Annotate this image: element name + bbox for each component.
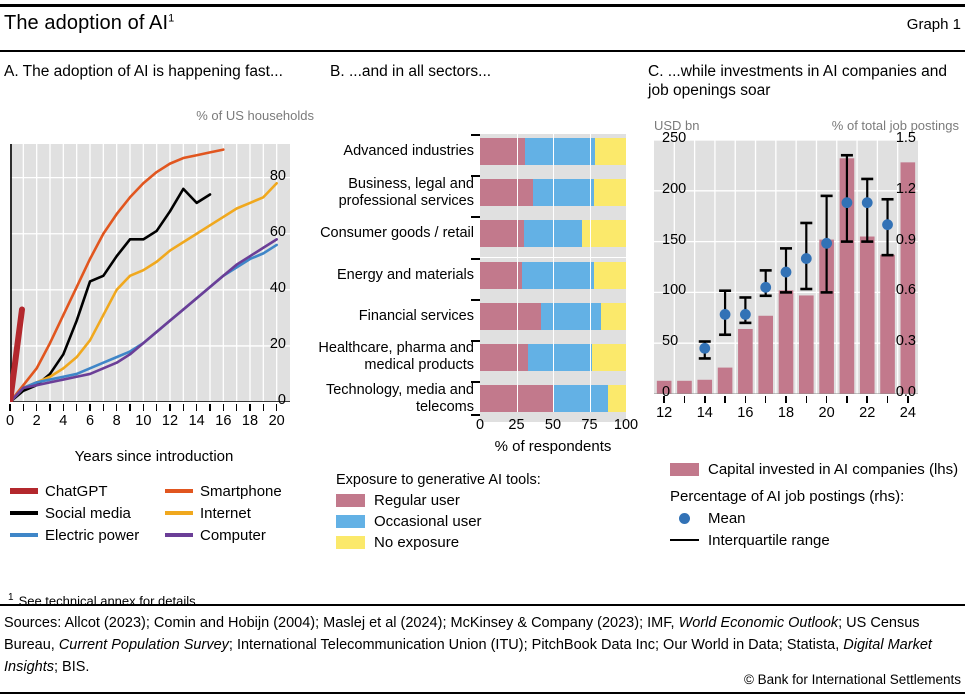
legend-item-occasional-user: Occasional user [336, 511, 636, 532]
panel-c-xtick [663, 396, 665, 403]
panel-b-row-tick [471, 299, 480, 301]
panel-c-xtick [684, 396, 686, 403]
panel-c-xtick [826, 396, 828, 403]
panel-c-svg [654, 140, 918, 394]
panel-a-xtick [89, 404, 91, 411]
panel-c-ytick-left-200: 200 [662, 181, 686, 197]
header-rule [0, 50, 965, 52]
bar-segment-regular-user [480, 179, 533, 206]
copyright: © Bank for International Settlements [744, 672, 961, 687]
bar-segment-occasional-user [541, 303, 601, 330]
sources-italic-2: Current Population Survey [59, 637, 229, 653]
panel-b-legend: Exposure to generative AI tools: Regular… [336, 472, 636, 553]
panel-c-xtick [887, 396, 889, 403]
panel-c-legend: Capital invested in AI companies (lhs) P… [654, 458, 965, 551]
legend-item-smartphone: Smartphone [165, 483, 320, 500]
panel-a-xtick [49, 404, 51, 411]
bar-segment-occasional-user [525, 138, 595, 165]
panel-a-xtick [156, 404, 158, 411]
panel-c-xtick [704, 396, 706, 403]
sources-part-4: ; BIS. [54, 659, 89, 675]
panel-c-legend-mean: Mean [654, 507, 965, 529]
mean-label: Mean [708, 510, 746, 527]
panel-b-category-label: Financial services [314, 308, 474, 325]
footnote: 1See technical annex for details. [8, 592, 199, 608]
panel-c-legend-iqr: Interquartile range [654, 529, 965, 551]
legend-item-electric-power: Electric power [10, 527, 165, 544]
bar-segment-no-exposure [601, 303, 626, 330]
legend-item-internet: Internet [165, 505, 320, 522]
panel-b-gridline [590, 134, 591, 412]
panel-c-legend-points-title: Percentage of AI job postings (rhs): [654, 488, 965, 505]
panel-c-xtick [745, 396, 747, 403]
panel-c-ytick-right-5: 1.5 [896, 130, 916, 146]
legend-label: No exposure [374, 534, 459, 551]
legend-item-computer: Computer [165, 527, 320, 544]
bar-segment-occasional-user [528, 344, 592, 371]
panel-c-xticklabel-2018: 18 [770, 405, 802, 421]
legend-line-swatch [165, 489, 193, 493]
panel-c-xticklabel-2024: 24 [892, 405, 924, 421]
panel-c-title: C. ...while investments in AI companies … [648, 62, 961, 100]
panel-b-row-tick [471, 216, 480, 218]
panel-c-xaxis: 12141618202224 [654, 394, 918, 428]
panel-b-xaxis-title: % of respondents [480, 438, 626, 455]
panel-b-category-label: Business, legal and professional service… [314, 176, 474, 210]
panel-a-xtick [223, 404, 225, 411]
panel-a-ytick-40: 40 [246, 280, 286, 296]
panel-a-xtick [169, 404, 171, 411]
footnote-marker: 1 [8, 592, 14, 603]
page-title-text: The adoption of AI [4, 12, 168, 34]
panel-a-xaxis: 02468101214161820 [10, 402, 290, 436]
panel-c-xtick [907, 396, 909, 403]
panel-a-unit: % of US households [196, 108, 314, 123]
graph-number: Graph 1 [907, 16, 961, 33]
bar-segment-occasional-user [553, 385, 608, 412]
bar-segment-no-exposure [594, 262, 626, 289]
page-header: The adoption of AI1 Graph 1 [0, 12, 965, 46]
legend-row: ChatGPTSmartphone [10, 480, 320, 502]
iqr-label: Interquartile range [708, 532, 830, 549]
capital-bar-swatch [670, 463, 699, 476]
panel-b-xticklabel-100: 100 [604, 417, 648, 433]
panel-b-category-label: Healthcare, pharma and medical products [314, 340, 474, 374]
panel-a-ytick-80: 80 [246, 168, 286, 184]
panel-c-xticklabel-2020: 20 [811, 405, 843, 421]
panel-a-plot: 020406080 [10, 144, 290, 402]
legend-item-chatgpt: ChatGPT [10, 483, 165, 500]
legend-label: Smartphone [200, 483, 282, 500]
top-rule [0, 4, 965, 7]
legend-label: Internet [200, 505, 251, 522]
panel-a-xtick [116, 404, 118, 411]
legend-item-regular-user: Regular user [336, 490, 636, 511]
bar-segment-no-exposure [592, 344, 626, 371]
bar-segment-no-exposure [595, 138, 626, 165]
panel-a-xtick [23, 404, 25, 411]
legend-row: Electric powerComputer [10, 524, 320, 546]
sources-part-3: ; International Telecommunication Union … [229, 637, 843, 653]
panel-a-xtick [236, 404, 238, 411]
panel-c-plot: 00.0500.31000.61500.92001.22501.5 [654, 140, 918, 394]
panel-c-xtick [866, 396, 868, 403]
footer-rule [0, 604, 965, 606]
legend-line-swatch [10, 488, 38, 494]
bar-segment-regular-user [480, 138, 525, 165]
panel-b: B. ...and in all sectors... Advanced ind… [330, 62, 630, 81]
panel-c-xticklabel-2016: 16 [729, 405, 761, 421]
legend-color-swatch [336, 494, 365, 507]
panel-a-xtick [63, 404, 65, 411]
panel-b-category-label: Advanced industries [314, 143, 474, 160]
panel-c-xtick [724, 396, 726, 403]
panel-b-axis-mark [471, 414, 480, 416]
panel-c-ytick-right-4: 1.2 [896, 181, 916, 197]
title-footnote-marker: 1 [168, 12, 174, 24]
panel-b-gridline [553, 134, 554, 412]
legend-label: Computer [200, 527, 266, 544]
panel-c-xtick [785, 396, 787, 403]
panel-c-ytick-left-100: 100 [662, 282, 686, 298]
panel-b-title: B. ...and in all sectors... [330, 62, 620, 81]
panel-c-ytick-right-3: 0.9 [896, 232, 916, 248]
sources-part-1: Sources: Allcot (2023); Comin and Hobijn… [4, 615, 679, 631]
panel-b-row-tick [471, 134, 480, 136]
panel-a-ytick-60: 60 [246, 224, 286, 240]
capital-bar-label: Capital invested in AI companies (lhs) [708, 461, 958, 478]
panel-c-ytick-left-150: 150 [662, 232, 686, 248]
legend-row: Social mediaInternet [10, 502, 320, 524]
sources-italic-1: World Economic Outlook [679, 615, 839, 631]
panel-b-category-label: Consumer goods / retail [314, 225, 474, 242]
panel-a-xtick [129, 404, 131, 411]
panel-a-xtick [76, 404, 78, 411]
panel-c-xticklabel-2014: 14 [689, 405, 721, 421]
bar-segment-regular-user [480, 303, 541, 330]
panel-c-xtick [765, 396, 767, 403]
legend-label: ChatGPT [45, 483, 108, 500]
bar-segment-no-exposure [608, 385, 626, 412]
iqr-line-swatch [670, 539, 699, 542]
sources-text: Sources: Allcot (2023); Comin and Hobijn… [4, 612, 961, 678]
bottom-rule [0, 692, 965, 695]
panel-c: C. ...while investments in AI companies … [648, 62, 961, 100]
bar-segment-regular-user [480, 344, 528, 371]
legend-item-no-exposure: No exposure [336, 532, 636, 553]
mean-dot-swatch [670, 513, 699, 524]
panel-a-xtick [196, 404, 198, 411]
legend-label: Social media [45, 505, 131, 522]
panel-a-xtick [209, 404, 211, 411]
panel-b-category-label: Technology, media and telecoms [314, 382, 474, 416]
page-title: The adoption of AI1 [4, 12, 174, 35]
graph-page: The adoption of AI1 Graph 1 A. The adopt… [0, 0, 965, 696]
panel-a-xtick [183, 404, 185, 411]
panel-a-xticklabel-20: 20 [261, 413, 293, 429]
panel-c-xtick [846, 396, 848, 403]
panel-a-xtick [9, 404, 11, 411]
panel-a-xtick [36, 404, 38, 411]
legend-line-swatch [165, 511, 193, 515]
panel-c-xtick [806, 396, 808, 403]
panel-b-legend-title: Exposure to generative AI tools: [336, 472, 636, 488]
panel-b-row-tick [471, 258, 480, 260]
footnote-text: See technical annex for details. [19, 593, 200, 608]
panel-a-xtick [103, 404, 105, 411]
bar-segment-occasional-user [522, 262, 594, 289]
panel-c-ytick-right-2: 0.6 [896, 282, 916, 298]
panel-c-ytick-left-250: 250 [662, 130, 686, 146]
panel-b-xaxis: 0255075100 [480, 414, 626, 434]
panel-a-xtick [263, 404, 265, 411]
bar-segment-no-exposure [594, 179, 626, 206]
panel-a-ytick-20: 20 [246, 336, 286, 352]
panel-a-xtick [276, 404, 278, 411]
panel-c-ytick-right-1: 0.3 [896, 333, 916, 349]
panel-b-plot: Advanced industriesBusiness, legal and p… [480, 138, 626, 412]
panel-c-xticklabel-2022: 22 [851, 405, 883, 421]
panel-a-xtick [143, 404, 145, 411]
legend-label: Electric power [45, 527, 139, 544]
panel-c-legend-bars: Capital invested in AI companies (lhs) [654, 458, 965, 480]
legend-color-swatch [336, 536, 365, 549]
panel-b-category-label: Energy and materials [314, 267, 474, 284]
panel-a: A. The adoption of AI is happening fast.… [4, 62, 320, 81]
legend-label: Occasional user [374, 513, 482, 530]
legend-label: Regular user [374, 492, 460, 509]
panel-a-xaxis-title: Years since introduction [4, 448, 304, 465]
legend-line-swatch [10, 533, 38, 537]
legend-line-swatch [10, 511, 38, 515]
legend-item-social-media: Social media [10, 505, 165, 522]
legend-line-swatch [165, 533, 193, 537]
panel-c-ytick-left-50: 50 [662, 333, 678, 349]
panel-a-legend: ChatGPTSmartphoneSocial mediaInternetEle… [10, 480, 320, 546]
legend-color-swatch [336, 515, 365, 528]
bar-segment-occasional-user [533, 179, 594, 206]
panel-c-xticklabel-2012: 12 [648, 405, 680, 421]
panel-b-legend-items: Regular userOccasional userNo exposure [336, 490, 636, 553]
panel-b-gridline [517, 134, 518, 412]
panel-a-title: A. The adoption of AI is happening fast.… [4, 62, 304, 81]
panel-a-xtick [249, 404, 251, 411]
